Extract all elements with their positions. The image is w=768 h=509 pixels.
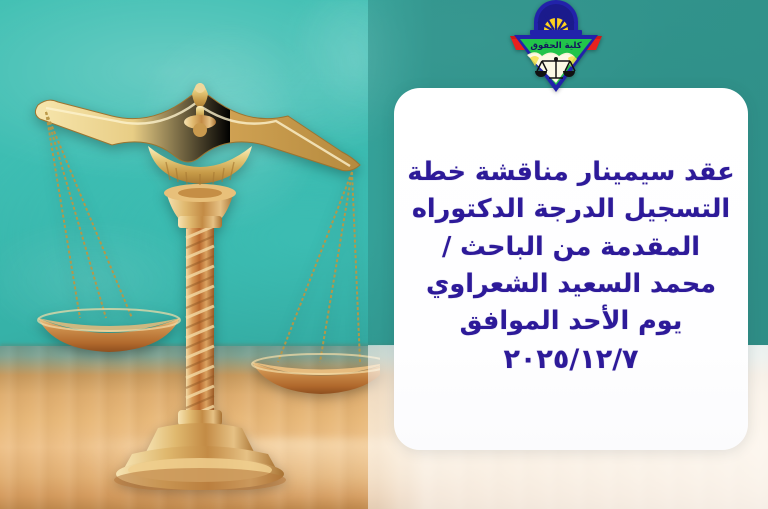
announcement-card: عقد سيمينار مناقشة خطة التسجيل الدرجة ال… [394,88,748,450]
announcement-line-2: التسجيل الدرجة الدكتوراه [406,191,736,228]
announcement-line-5: يوم الأحد الموافق [406,303,736,340]
faculty-of-law-emblem: كلية الحقوق [504,0,608,94]
seminar-announcement-poster: عقد سيمينار مناقشة خطة التسجيل الدرجة ال… [0,0,768,509]
announcement-line-1: عقد سيمينار مناقشة خطة [406,154,736,191]
balance-scale-icon [20,50,380,490]
announcement-line-4: محمد السعيد الشعراوي [406,266,736,303]
announcement-date: ٢٠٢٥/١٢/٧ [406,340,736,379]
announcement-line-3: المقدمة من الباحث / [406,229,736,266]
emblem-caption: كلية الحقوق [530,41,581,51]
